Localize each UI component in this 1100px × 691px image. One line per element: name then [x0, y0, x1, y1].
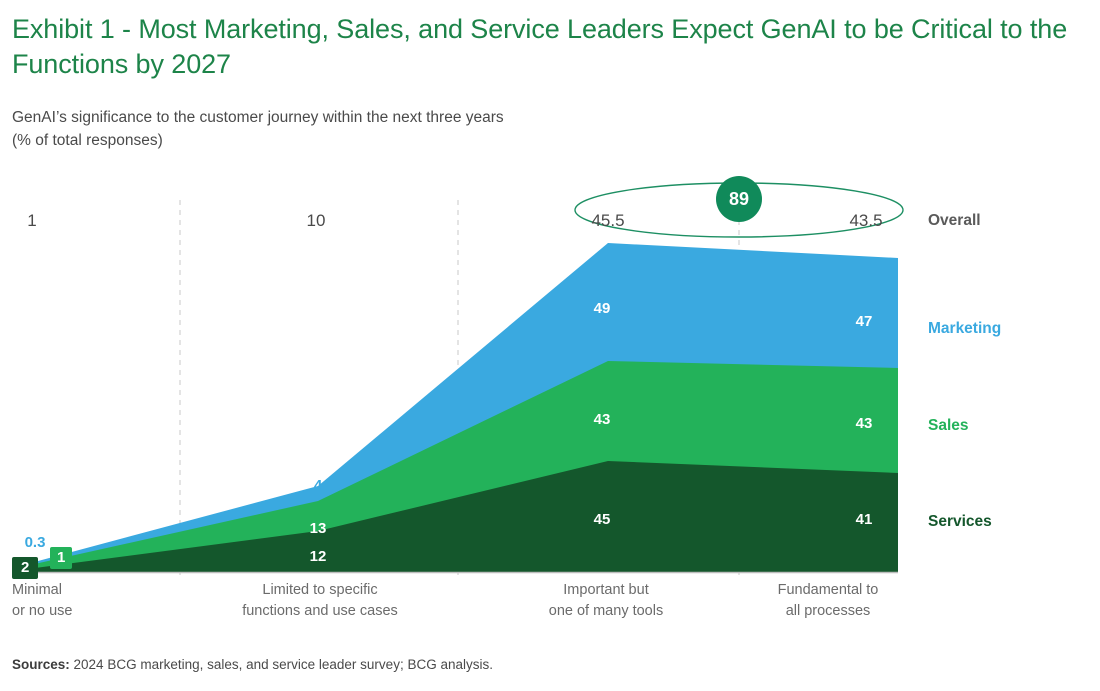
overall-value-2: 10: [284, 211, 348, 231]
x-axis-label-4: Fundamental to all processes: [748, 580, 908, 622]
data-label-marketing-3: 49: [578, 300, 626, 317]
data-label-services-1: 2: [12, 557, 38, 579]
sources-label: Sources:: [12, 657, 70, 672]
data-label-sales-3: 43: [578, 411, 626, 428]
series-area-marketing: [12, 243, 898, 572]
gridlines: [180, 200, 739, 575]
data-label-services-4: 41: [840, 511, 888, 528]
data-label-sales-2: 13: [294, 520, 342, 537]
legend-label-marketing: Marketing: [928, 320, 1001, 338]
data-label-services-2: 12: [294, 548, 342, 565]
legend-label-sales: Sales: [928, 417, 969, 435]
overall-sum-badge: 89: [716, 176, 762, 222]
series-area-sales: [12, 361, 898, 572]
data-label-sales-4: 43: [840, 415, 888, 432]
data-label-marketing-2: 4: [302, 477, 334, 494]
x-axis-label-2: Limited to specific functions and use ca…: [220, 580, 420, 622]
data-label-sales-1: 1: [50, 547, 72, 569]
data-label-services-3: 45: [578, 511, 626, 528]
legend-label-services: Services: [928, 513, 992, 531]
x-axis-label-3: Important but one of many tools: [516, 580, 696, 622]
x-axis-label-1: Minimal or no use: [12, 580, 172, 622]
overall-value-3: 45.5: [576, 211, 640, 231]
data-label-marketing-4: 47: [840, 313, 888, 330]
sources-footnote: Sources: 2024 BCG marketing, sales, and …: [12, 657, 493, 672]
overall-value-4: 43.5: [834, 211, 898, 231]
page-title: Exhibit 1 - Most Marketing, Sales, and S…: [12, 12, 1072, 82]
legend-label-overall: Overall: [928, 212, 981, 230]
chart-subtitle: GenAI’s significance to the customer jou…: [12, 106, 712, 152]
series-area-services: [12, 461, 898, 572]
overall-value-1: 1: [0, 211, 64, 231]
sources-text: 2024 BCG marketing, sales, and service l…: [70, 657, 493, 672]
